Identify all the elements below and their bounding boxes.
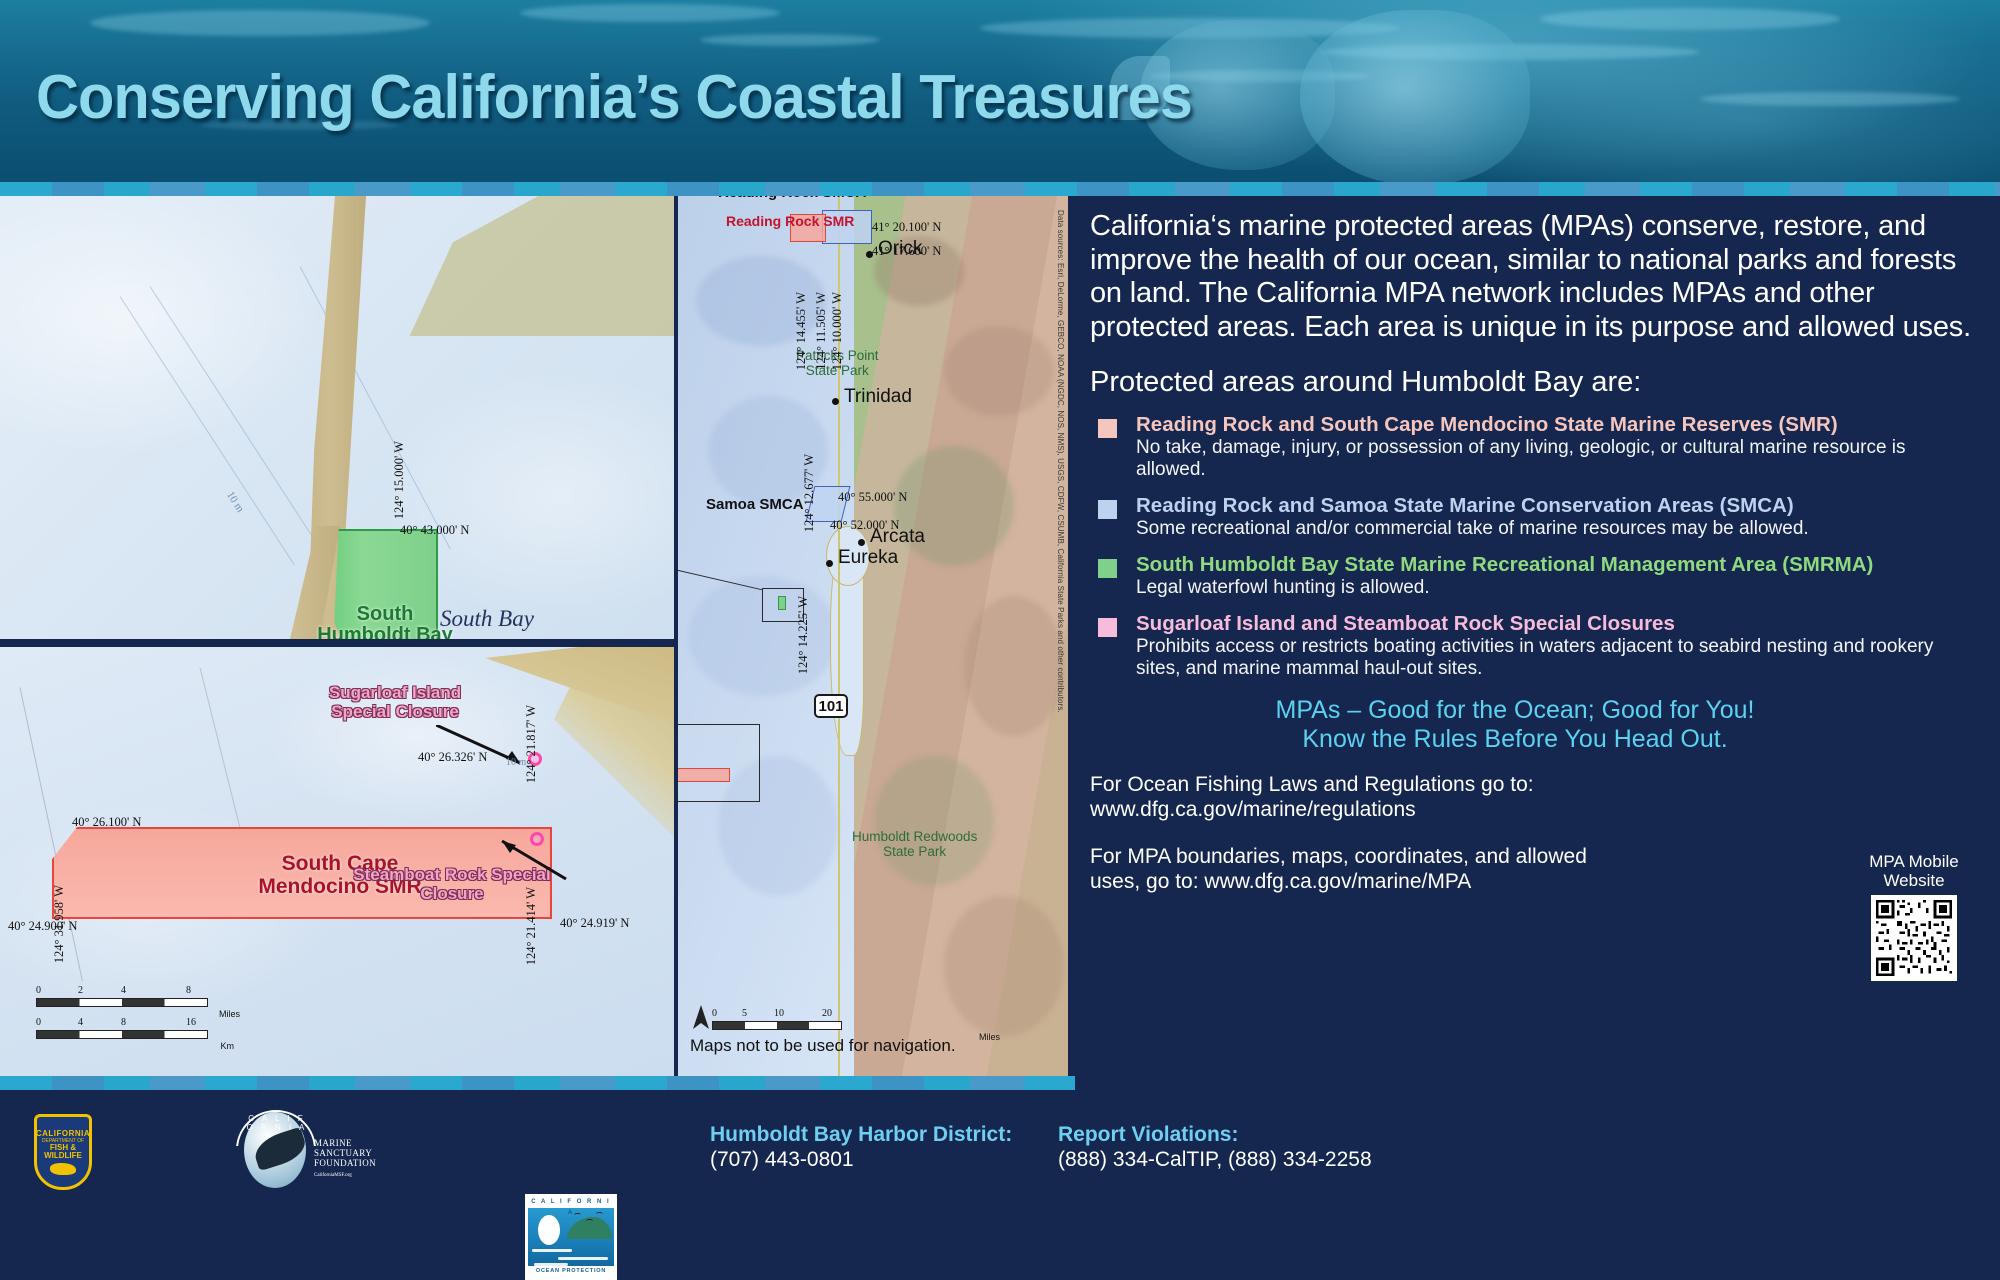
bird-icon-3 (596, 1212, 603, 1216)
navigation-disclaimer: Maps not to be used for navigation. (690, 1036, 956, 1056)
scalebar-region-ticks: 0 5 10 20 (712, 1008, 892, 1021)
place-label-trinidad: Trinidad (844, 388, 912, 405)
page-title: Conserving California’s Coastal Treasure… (36, 62, 1192, 133)
scalebar-scm-miles-unit: Miles (219, 1009, 240, 1019)
map-south-humboldt-bay[interactable]: 10 m South Humboldt Bay SMRMA South Bay … (0, 196, 674, 643)
legend-desc-smr: No take, damage, injury, or possession o… (1136, 437, 1980, 481)
coord-40-43-n: 40° 43.000' N (400, 523, 469, 538)
cdfw-line-4: WILDLIFE (44, 1152, 82, 1160)
scalebar-south-cape-mendocino: 0 2 4 8 Miles 0 4 8 16 Km (36, 985, 216, 1039)
legend-desc-smca: Some recreational and/or commercial take… (1136, 518, 1980, 540)
link-mpa-label: For MPA boundaries, maps, coordinates, a… (1090, 844, 1790, 869)
link-regulations-url[interactable]: www.dfg.ca.gov/marine/regulations (1090, 797, 1790, 822)
resource-links: For Ocean Fishing Laws and Regulations g… (1090, 772, 1790, 894)
region-coord-124-14-225-w: 124° 14.225' W (796, 596, 811, 674)
contact-report-violations: Report Violations: (888) 334-CalTIP, (88… (1058, 1122, 1372, 1172)
terrain-background (854, 196, 1068, 1076)
coord-124-15-w: 124° 15.000' W (392, 441, 407, 519)
info-panel: California‘s marine protected areas (MPA… (1068, 196, 2000, 1076)
region-coord-40-55-000-n: 40° 55.000' N (838, 490, 907, 505)
place-dot-eureka (826, 560, 833, 567)
qr-block[interactable]: MPA Mobile Website (1854, 852, 1974, 981)
bird-icon (574, 1213, 581, 1217)
legend-swatch-smca (1098, 500, 1117, 519)
place-dot-arcata (858, 539, 865, 546)
closure-marker-steamboat-rock[interactable] (530, 832, 544, 846)
opc-art-icon: C A L I F O R N I A OCEAN PROTECTION COU… (528, 1197, 614, 1277)
link-block-mpa[interactable]: For MPA boundaries, maps, coordinates, a… (1090, 844, 1790, 894)
coord-40-26-326-n: 40° 26.326' N (418, 750, 487, 765)
region-coord-41-20-100-n: 41° 20.100' N (872, 220, 941, 235)
link-mpa-url[interactable]: uses, go to: www.dfg.ca.gov/marine/MPA (1090, 869, 1790, 894)
park-label-humboldt-redwoods: Humboldt RedwoodsState Park (852, 829, 977, 859)
logo-marine-sanctuary-foundation[interactable]: C A L I F O R N I A MARINE SANCTUARY FOU… (218, 1108, 368, 1194)
header-banner: Conserving California’s Coastal Treasure… (0, 0, 2000, 196)
legend-item-special-closure[interactable]: Sugarloaf Island and Steamboat Rock Spec… (1090, 612, 1980, 680)
opc-top-text: C A L I F O R N I A (528, 1197, 614, 1208)
msf-line-3: FOUNDATION (314, 1158, 376, 1168)
mpa-label-south-humboldt-bay-smrma: South Humboldt Bay SMRMA (310, 604, 460, 643)
msf-wordmark: MARINE SANCTUARY FOUNDATION CaliforniaMS… (314, 1138, 376, 1181)
qr-caption-line-1: MPA Mobile (1854, 852, 1974, 871)
logo-ocean-protection-council[interactable]: C A L I F O R N I A OCEAN PROTECTION COU… (525, 1194, 617, 1280)
north-arrow-icon (690, 1005, 712, 1033)
mpa-title-reading-rock-smca: Reading Rock SMCA (718, 196, 866, 201)
scalebar-scm-miles-ticks: 0 2 4 8 (36, 985, 216, 998)
protected-areas-subhead: Protected areas around Humboldt Bay are: (1090, 366, 1980, 399)
bird-icon-2 (586, 1219, 593, 1223)
contact-harbor-heading: Humboldt Bay Harbor District: (710, 1122, 1012, 1147)
link-regulations-label: For Ocean Fishing Laws and Regulations g… (1090, 772, 1790, 797)
coord-124-21-414-w: 124° 21.414' W (524, 887, 539, 965)
cdfw-line-1: CALIFORNIA (36, 1129, 90, 1138)
mpa-title-reading-rock-smr: Reading Rock SMR (726, 214, 790, 229)
map-attribution: Data sources: Esri, DeLorme, GEBCO, NOAA… (1056, 210, 1065, 713)
bear-icon (50, 1163, 76, 1175)
region-coord-41-17-600-n: 41° 17.600' N (872, 244, 941, 259)
mpa-region-south-cape-mendocino-smr[interactable] (678, 768, 730, 782)
link-block-regulations[interactable]: For Ocean Fishing Laws and Regulations g… (1090, 772, 1790, 822)
qr-caption: MPA Mobile Website (1854, 852, 1974, 890)
contact-harbor-phone: (707) 443-0801 (710, 1147, 1012, 1172)
logo-cdfw[interactable]: CALIFORNIA DEPARTMENT OF FISH & WILDLIFE (34, 1114, 92, 1190)
mpa-region-south-humboldt-bay-smrma[interactable] (778, 596, 786, 610)
region-coord-124-14-455-w: 124° 14.455' W (794, 292, 809, 370)
closure-label-sugarloaf-island: Sugarloaf Island Special Closure (300, 683, 490, 721)
footer-dash-strip (0, 1076, 1075, 1090)
place-dot-trinidad (832, 398, 839, 405)
tagline-line-2: Know the Rules Before You Head Out. (1090, 725, 1940, 754)
legend-desc-smrma: Legal waterfowl hunting is allowed. (1136, 577, 1980, 599)
scalebar-region: 0 5 10 20 Miles (712, 1008, 892, 1030)
msf-line-4: CaliforniaMSF.org (314, 1173, 352, 1178)
map-south-cape-mendocino[interactable]: South Cape Mendocino SMR Sugarloaf Islan… (0, 647, 674, 1076)
mpa-legend: Reading Rock and South Cape Mendocino St… (1090, 413, 1980, 680)
region-coord-124-12-677-w: 124° 12.677' W (802, 454, 817, 532)
legend-swatch-special-closure (1098, 618, 1117, 637)
legend-swatch-smr (1098, 419, 1117, 438)
footer: CALIFORNIA DEPARTMENT OF FISH & WILDLIFE… (0, 1090, 2000, 1216)
legend-swatch-smrma (1098, 559, 1117, 578)
legend-title-special-closure: Sugarloaf Island and Steamboat Rock Spec… (1136, 612, 1980, 635)
legend-item-smrma[interactable]: South Humboldt Bay State Marine Recreati… (1090, 553, 1980, 599)
scalebar-scm-km-ticks: 0 4 8 16 (36, 1017, 216, 1030)
sunfish-silhouette-right (1300, 10, 1530, 185)
opc-bottom-text: OCEAN PROTECTION COUNCIL (528, 1266, 614, 1277)
coord-40-24-900-n: 40° 24.900' N (8, 919, 77, 934)
coord-40-24-919-n: 40° 24.919' N (560, 916, 629, 931)
region-coord-40-52-000-n: 40° 52.000' N (830, 518, 899, 533)
coord-124-21-817-w: 124° 21.817' W (524, 705, 539, 783)
poster: Conserving California’s Coastal Treasure… (0, 0, 2000, 1216)
intro-paragraph: California‘s marine protected areas (MPA… (1090, 210, 1980, 344)
water-label-south-bay: South Bay (440, 606, 534, 632)
contact-violations-phone: (888) 334-CalTIP, (888) 334-2258 (1058, 1147, 1372, 1172)
legend-title-smr: Reading Rock and South Cape Mendocino St… (1136, 413, 1980, 436)
legend-title-smrma: South Humboldt Bay State Marine Recreati… (1136, 553, 1980, 576)
region-coord-124-10-000-w: 124° 10.000' W (830, 292, 845, 370)
msf-line-1: MARINE (314, 1138, 376, 1148)
qr-caption-line-2: Website (1854, 871, 1974, 890)
coord-40-26-100-n: 40° 26.100' N (72, 815, 141, 830)
scalebar-region-unit: Miles (979, 1032, 1000, 1042)
legend-item-smr[interactable]: Reading Rock and South Cape Mendocino St… (1090, 413, 1980, 481)
map-humboldt-region[interactable]: Reading Rock SMCA Reading Rock SMR Samoa… (678, 196, 1068, 1076)
msf-line-2: SANCTUARY (314, 1148, 376, 1158)
contact-harbor-district: Humboldt Bay Harbor District: (707) 443-… (710, 1122, 1012, 1172)
sun-icon (538, 1215, 560, 1245)
contact-violations-heading: Report Violations: (1058, 1122, 1372, 1147)
scalebar-scm-km-unit: Km (221, 1041, 235, 1051)
region-coord-124-11-505-w: 124° 11.505' W (814, 292, 829, 370)
mpa-title-samoa-smca: Samoa SMCA (706, 496, 804, 513)
header-dash-strip (0, 182, 2000, 196)
locator-box-south-cape-mendocino (678, 724, 760, 802)
place-label-eureka: Eureka (838, 549, 898, 566)
legend-title-smca: Reading Rock and Samoa State Marine Cons… (1136, 494, 1980, 517)
highway-shield-101: 101 (814, 694, 848, 718)
qr-code-icon[interactable] (1871, 895, 1957, 981)
tagline-line-1: MPAs – Good for the Ocean; Good for You! (1090, 696, 1940, 725)
depth-contour-label-scm: 10 m (506, 757, 526, 768)
legend-desc-special-closure: Prohibits access or restricts boating ac… (1136, 636, 1980, 680)
legend-item-smca[interactable]: Reading Rock and Samoa State Marine Cons… (1090, 494, 1980, 540)
msf-arc-text: C A L I F O R N I A (242, 1114, 312, 1132)
tagline: MPAs – Good for the Ocean; Good for You!… (1090, 696, 1980, 754)
